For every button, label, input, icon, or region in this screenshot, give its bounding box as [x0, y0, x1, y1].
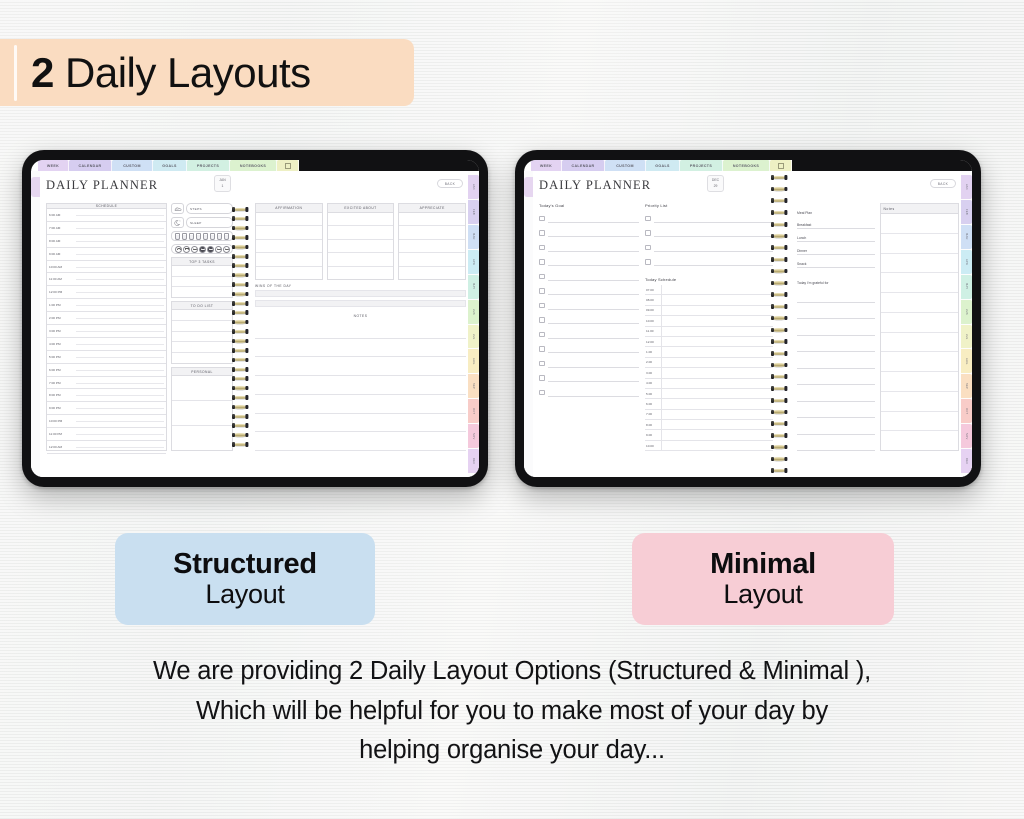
schedule-row[interactable]: 12:00 AM: [47, 441, 166, 454]
meal-plan-label: Meal Plan: [797, 203, 875, 216]
meal-dinner[interactable]: Dinner: [797, 242, 875, 255]
todays-goal-rows[interactable]: [539, 211, 639, 400]
todo-row[interactable]: [172, 342, 232, 353]
schedule-row[interactable]: 7:00 AM: [47, 222, 166, 235]
schedule-entry-line[interactable]: [74, 273, 166, 286]
appreciate-row[interactable]: [399, 267, 465, 279]
today-schedule-row[interactable]: 1.00: [645, 347, 773, 357]
tab-calendar[interactable]: CALENDAR: [562, 160, 605, 171]
mood-face-icon[interactable]: [183, 246, 190, 253]
todays-goal-row[interactable]: [539, 371, 639, 386]
today-schedule-row[interactable]: 7.00: [645, 410, 773, 420]
entry-line[interactable]: [548, 286, 640, 295]
notes-row[interactable]: [881, 214, 959, 234]
today-schedule-entry-line[interactable]: [662, 327, 773, 337]
today-schedule-rows[interactable]: 07.0008.0009.0010.0011.0012.001.002.003.…: [645, 285, 773, 451]
month-tab-nov[interactable]: NOV: [961, 424, 972, 448]
todays-goal-row[interactable]: [539, 298, 639, 313]
schedule-row[interactable]: 9:00 PM: [47, 402, 166, 415]
appreciate-row[interactable]: [399, 240, 465, 253]
steps-tracker[interactable]: STEPS: [171, 203, 233, 214]
checkbox[interactable]: [539, 375, 545, 381]
priority-list-row[interactable]: [645, 211, 773, 226]
appreciate-row[interactable]: [399, 226, 465, 239]
spiral-ring: [771, 433, 787, 438]
checkbox[interactable]: [645, 230, 651, 236]
mood-tracker[interactable]: [171, 244, 233, 254]
todo-row[interactable]: [172, 353, 232, 363]
schedule-row[interactable]: 10:00 AM: [47, 261, 166, 274]
schedule-row[interactable]: 1:00 PM: [47, 299, 166, 312]
today-schedule-row[interactable]: 08.00: [645, 295, 773, 305]
schedule-row[interactable]: 12:00 PM: [47, 286, 166, 299]
tab-goals[interactable]: GOALS: [153, 160, 187, 171]
checkbox[interactable]: [645, 216, 651, 222]
todays-goal-row[interactable]: [539, 327, 639, 342]
date-badge-minimal[interactable]: DEC 29: [707, 175, 724, 192]
entry-line[interactable]: [654, 243, 774, 252]
month-tab-jul[interactable]: JUL: [468, 325, 479, 349]
notes-row[interactable]: [881, 234, 959, 254]
date-badge-structured[interactable]: JAN 1: [214, 175, 231, 192]
schedule-row[interactable]: 6:00 PM: [47, 364, 166, 377]
entry-line[interactable]: [548, 330, 640, 339]
today-schedule-entry-line[interactable]: [662, 410, 773, 420]
month-tab-dec[interactable]: DEC: [961, 449, 972, 473]
todays-goal-row[interactable]: [539, 211, 639, 226]
schedule-entry-line[interactable]: [74, 222, 166, 235]
todays-goal-row[interactable]: [539, 342, 639, 357]
schedule-entry-line[interactable]: [74, 389, 166, 402]
todays-goal-row[interactable]: [539, 313, 639, 328]
mood-face-icon[interactable]: [199, 246, 206, 253]
meal-snack[interactable]: Snack: [797, 255, 875, 268]
appreciate-row[interactable]: [399, 253, 465, 266]
excited-about-row[interactable]: [328, 267, 394, 279]
schedule-entry-line[interactable]: [74, 441, 166, 454]
checkbox[interactable]: [645, 245, 651, 251]
tab-custom[interactable]: CUSTOM: [112, 160, 153, 171]
grateful-line[interactable]: [797, 402, 875, 419]
today-schedule-entry-line[interactable]: [662, 368, 773, 378]
today-schedule-entry-line[interactable]: [662, 285, 773, 295]
schedule-entry-line[interactable]: [74, 351, 166, 364]
checkbox[interactable]: [539, 245, 545, 251]
today-schedule-entry-line[interactable]: [662, 347, 773, 357]
sleep-tracker[interactable]: SLEEP: [171, 217, 233, 228]
notes-row[interactable]: [881, 313, 959, 333]
excited-about-row[interactable]: [328, 226, 394, 239]
water-intake-tracker[interactable]: [171, 231, 233, 241]
today-schedule-row[interactable]: 11.00: [645, 327, 773, 337]
spiral-ring: [771, 363, 787, 368]
today-schedule-row[interactable]: 3.00: [645, 368, 773, 378]
tab-week[interactable]: WEEK: [531, 160, 562, 171]
water-glass-icon[interactable]: [217, 233, 222, 240]
water-glass-icon[interactable]: [175, 233, 180, 240]
notes-row[interactable]: [881, 431, 959, 450]
left-edge-tabs-structured[interactable]: [31, 171, 40, 477]
today-schedule-entry-line[interactable]: [662, 420, 773, 430]
tab-grid-icon[interactable]: [277, 160, 299, 171]
wins-of-the-day-section: WINS OF THE DAY: [255, 284, 466, 310]
checkbox[interactable]: [539, 230, 545, 236]
affirmation-row[interactable]: [256, 213, 322, 226]
grateful-line[interactable]: [797, 303, 875, 320]
today-schedule-row[interactable]: 6.00: [645, 399, 773, 409]
schedule-entry-line[interactable]: [74, 286, 166, 299]
entry-line[interactable]: [548, 344, 640, 353]
notes-row[interactable]: [881, 352, 959, 372]
today-schedule-row[interactable]: 09.00: [645, 306, 773, 316]
mood-face-icon[interactable]: [215, 246, 222, 253]
todays-goal-row[interactable]: [539, 240, 639, 255]
tab-week[interactable]: WEEK: [38, 160, 69, 171]
tab-grid-icon[interactable]: [770, 160, 792, 171]
month-tab-feb[interactable]: FEB: [468, 200, 479, 224]
sleep-label[interactable]: SLEEP: [186, 217, 233, 228]
water-glass-icon[interactable]: [182, 233, 187, 240]
checkbox[interactable]: [539, 346, 545, 352]
grateful-line[interactable]: [797, 286, 875, 303]
entry-line[interactable]: [654, 214, 774, 223]
month-tab-may[interactable]: MAY: [961, 275, 972, 299]
entry-line[interactable]: [548, 214, 640, 223]
todays-goal-row[interactable]: [539, 255, 639, 270]
personal-row[interactable]: [172, 426, 232, 450]
priority-list-row[interactable]: [645, 240, 773, 255]
todays-goal-row[interactable]: [539, 269, 639, 284]
checkbox[interactable]: [645, 259, 651, 265]
date-day: 1: [222, 184, 224, 189]
schedule-entry-line[interactable]: [74, 261, 166, 274]
today-schedule-entry-line[interactable]: [662, 441, 773, 451]
checkbox[interactable]: [539, 216, 545, 222]
checkbox[interactable]: [539, 317, 545, 323]
month-tab-oct[interactable]: OCT: [961, 399, 972, 423]
checkbox[interactable]: [539, 259, 545, 265]
todo-row[interactable]: [172, 310, 232, 321]
schedule-row[interactable]: 9:00 AM: [47, 248, 166, 261]
notes-line[interactable]: [255, 339, 466, 358]
todo-row[interactable]: [172, 321, 232, 332]
spiral-ring: [771, 257, 787, 262]
month-tab-jun[interactable]: JUN: [468, 300, 479, 324]
top3-tasks-header: TOP 3 TASKS: [172, 258, 232, 266]
entry-line[interactable]: [548, 359, 640, 368]
tab-calendar[interactable]: CALENDAR: [69, 160, 112, 171]
tab-projects[interactable]: PROJECTS: [187, 160, 230, 171]
wins-row[interactable]: [255, 300, 466, 307]
personal-row[interactable]: [172, 376, 232, 401]
notes-rows-minimal[interactable]: [881, 214, 959, 450]
month-tab-jul[interactable]: JUL: [961, 325, 972, 349]
month-tab-oct[interactable]: OCT: [468, 399, 479, 423]
schedule-time: 5:00 PM: [47, 351, 74, 364]
tablet-minimal[interactable]: WEEK CALENDAR CUSTOM GOALS PROJECTS NOTE…: [515, 150, 981, 487]
today-schedule-entry-line[interactable]: [662, 430, 773, 440]
left-edge-tab-chip[interactable]: [31, 177, 40, 197]
today-schedule-entry-line[interactable]: [662, 379, 773, 389]
wins-row[interactable]: [255, 290, 466, 297]
schedule-entry-line[interactable]: [74, 428, 166, 441]
back-button-minimal[interactable]: BACK: [930, 179, 956, 188]
month-tab-apr[interactable]: APR: [961, 250, 972, 274]
title-banner: 2 Daily Layouts: [0, 39, 414, 106]
steps-label[interactable]: STEPS: [186, 203, 233, 214]
grateful-line[interactable]: [797, 369, 875, 386]
checkbox[interactable]: [539, 361, 545, 367]
month-tab-aug[interactable]: AUG: [468, 349, 479, 373]
notes-row[interactable]: [881, 333, 959, 353]
minimal-layout-label: Minimal Layout: [632, 533, 894, 625]
today-schedule-entry-line[interactable]: [662, 337, 773, 347]
month-tab-aug[interactable]: AUG: [961, 349, 972, 373]
notes-row[interactable]: [881, 273, 959, 293]
schedule-entry-line[interactable]: [74, 325, 166, 338]
priority-list-rows[interactable]: [645, 211, 773, 269]
spiral-ring: [771, 351, 787, 356]
left-edge-tab-chip[interactable]: [524, 177, 533, 197]
schedule-row[interactable]: 2:00 PM: [47, 312, 166, 325]
spiral-ring: [232, 358, 248, 363]
water-glass-icon[interactable]: [210, 233, 215, 240]
notes-line[interactable]: [255, 432, 466, 451]
tab-goals[interactable]: GOALS: [646, 160, 680, 171]
mood-face-icon[interactable]: [191, 246, 198, 253]
schedule-row[interactable]: 6:00 AM: [47, 209, 166, 222]
priority-list-row[interactable]: [645, 226, 773, 241]
schedule-row[interactable]: 4:00 PM: [47, 338, 166, 351]
affirmation-row[interactable]: [256, 267, 322, 279]
month-tabs-minimal[interactable]: JANFEBMARAPRMAYJUNJULAUGSEPOCTNOVDEC: [961, 171, 972, 477]
excited-about-row[interactable]: [328, 253, 394, 266]
today-schedule-row[interactable]: 12.00: [645, 337, 773, 347]
todays-goal-row[interactable]: [539, 385, 639, 400]
grateful-label: Today I'm grateful for: [797, 273, 875, 286]
schedule-entry-line[interactable]: [74, 248, 166, 261]
structured-layout-label: Structured Layout: [115, 533, 375, 625]
notes-row[interactable]: [881, 392, 959, 412]
water-glass-icon[interactable]: [224, 233, 229, 240]
meal-lunch[interactable]: Lunch: [797, 229, 875, 242]
notes-lines-structured[interactable]: [255, 320, 466, 451]
grateful-rows[interactable]: [797, 286, 875, 451]
grateful-line[interactable]: [797, 336, 875, 353]
mood-face-icon[interactable]: [207, 246, 214, 253]
today-schedule-row[interactable]: 8.00: [645, 420, 773, 430]
schedule-row[interactable]: 5:00 PM: [47, 351, 166, 364]
entry-line[interactable]: [548, 243, 640, 252]
schedule-row[interactable]: 3:00 PM: [47, 325, 166, 338]
entry-line[interactable]: [548, 315, 640, 324]
todays-goal-row[interactable]: [539, 226, 639, 241]
notes-row[interactable]: [881, 254, 959, 274]
grateful-line[interactable]: [797, 319, 875, 336]
today-schedule-entry-line[interactable]: [662, 399, 773, 409]
excited-about-row[interactable]: [328, 213, 394, 226]
spiral-ring: [232, 329, 248, 334]
spiral-ring: [771, 410, 787, 415]
notes-line[interactable]: [255, 357, 466, 376]
entry-line[interactable]: [548, 373, 640, 382]
today-schedule-row[interactable]: 2.00: [645, 358, 773, 368]
schedule-time: 11:00 PM: [47, 428, 74, 441]
schedule-time: 8:00 PM: [47, 389, 74, 402]
appreciate-row[interactable]: [399, 213, 465, 226]
month-tab-jan[interactable]: JAN: [468, 175, 479, 199]
entry-line[interactable]: [548, 301, 640, 310]
left-edge-tabs-minimal[interactable]: [524, 171, 533, 477]
checkbox[interactable]: [539, 390, 545, 396]
tab-custom[interactable]: CUSTOM: [605, 160, 646, 171]
back-button-structured[interactable]: BACK: [437, 179, 463, 188]
today-schedule-row[interactable]: 10.00: [645, 316, 773, 326]
schedule-entry-line[interactable]: [74, 377, 166, 390]
schedule-entry-line[interactable]: [74, 299, 166, 312]
grateful-line[interactable]: [797, 385, 875, 402]
month-tabs-structured[interactable]: JANFEBMARAPRMAYJUNJULAUGSEPOCTNOVDEC: [468, 171, 479, 477]
page-title: 2 Daily Layouts: [31, 49, 311, 97]
today-schedule-row[interactable]: 10.00: [645, 441, 773, 451]
spiral-ring: [232, 263, 248, 268]
mood-face-icon[interactable]: [175, 246, 182, 253]
schedule-row[interactable]: 11:00 PM: [47, 428, 166, 441]
grateful-line[interactable]: [797, 435, 875, 452]
checkbox[interactable]: [539, 274, 545, 280]
month-tab-jun[interactable]: JUN: [961, 300, 972, 324]
tablet-structured[interactable]: WEEK CALENDAR CUSTOM GOALS PROJECTS NOTE…: [22, 150, 488, 487]
schedule-entry-line[interactable]: [74, 402, 166, 415]
checkbox[interactable]: [539, 288, 545, 294]
notes-line[interactable]: [255, 320, 466, 339]
affirmation-row[interactable]: [256, 226, 322, 239]
shoe-icon: [171, 203, 184, 214]
schedule-entry-line[interactable]: [74, 364, 166, 377]
schedule-row[interactable]: 8:00 PM: [47, 389, 166, 402]
notes-line[interactable]: [255, 414, 466, 433]
entry-line[interactable]: [548, 257, 640, 266]
water-glass-icon[interactable]: [196, 233, 201, 240]
excited-about-row[interactable]: [328, 240, 394, 253]
affirmation-row[interactable]: [256, 240, 322, 253]
notes-row[interactable]: [881, 412, 959, 432]
schedule-row[interactable]: 10:00 PM: [47, 415, 166, 428]
footer-line-3: helping organise your day...: [0, 731, 1024, 771]
date-day: 29: [714, 184, 718, 189]
month-tab-sep[interactable]: SEP: [961, 374, 972, 398]
month-tab-nov[interactable]: NOV: [468, 424, 479, 448]
schedule-rows[interactable]: 6:00 AM7:00 AM8:00 AM9:00 AM10:00 AM11:0…: [47, 209, 166, 454]
checkbox[interactable]: [539, 303, 545, 309]
entry-line[interactable]: [548, 272, 640, 281]
tab-projects[interactable]: PROJECTS: [680, 160, 723, 171]
top-tab-strip-structured[interactable]: WEEK CALENDAR CUSTOM GOALS PROJECTS NOTE…: [31, 160, 479, 171]
schedule-entry-line[interactable]: [74, 235, 166, 248]
entry-line[interactable]: [548, 228, 640, 237]
notes-line[interactable]: [255, 395, 466, 414]
todo-row[interactable]: [172, 332, 232, 343]
month-tab-sep[interactable]: SEP: [468, 374, 479, 398]
water-glass-icon[interactable]: [203, 233, 208, 240]
today-schedule-entry-line[interactable]: [662, 389, 773, 399]
tab-notebooks[interactable]: NOTEBOOKS: [230, 160, 277, 171]
meal-breakfast[interactable]: Breakfast: [797, 216, 875, 229]
spiral-ring: [232, 320, 248, 325]
spiral-ring: [771, 468, 787, 473]
schedule-time: 9:00 PM: [47, 402, 74, 415]
today-schedule-entry-line[interactable]: [662, 316, 773, 326]
notes-line[interactable]: [255, 376, 466, 395]
entry-line[interactable]: [654, 228, 774, 237]
moon-icon: [171, 217, 184, 228]
priority-list-row[interactable]: [645, 255, 773, 270]
grateful-line[interactable]: [797, 418, 875, 435]
schedule-row[interactable]: 7:00 PM: [47, 377, 166, 390]
todays-goal-row[interactable]: [539, 284, 639, 299]
top3-row[interactable]: [172, 287, 232, 297]
spiral-ring: [771, 386, 787, 391]
month-tab-jan[interactable]: JAN: [961, 175, 972, 199]
schedule-row[interactable]: 11:00 AM: [47, 273, 166, 286]
today-schedule-row[interactable]: 4.00: [645, 379, 773, 389]
schedule-time: 4:00 PM: [47, 338, 74, 351]
schedule-entry-line[interactable]: [74, 209, 166, 222]
checkbox[interactable]: [539, 332, 545, 338]
today-schedule-entry-line[interactable]: [662, 358, 773, 368]
today-schedule-entry-line[interactable]: [662, 295, 773, 305]
excited-about-header: EXCITED ABOUT: [328, 204, 394, 213]
water-glass-icon[interactable]: [189, 233, 194, 240]
month-tab-may[interactable]: MAY: [468, 275, 479, 299]
top3-row[interactable]: [172, 266, 232, 277]
journal-column: AFFIRMATION EXCITED ABOUT: [255, 203, 466, 451]
today-schedule-row[interactable]: 5.00: [645, 389, 773, 399]
schedule-row[interactable]: 8:00 AM: [47, 235, 166, 248]
schedule-time: 12:00 PM: [47, 286, 74, 299]
notes-row[interactable]: [881, 372, 959, 392]
todays-goal-row[interactable]: [539, 356, 639, 371]
planner-header-structured: DAILY PLANNER JAN 1 BACK: [46, 177, 466, 203]
notes-row[interactable]: [881, 293, 959, 313]
spiral-ring: [232, 282, 248, 287]
month-tab-feb[interactable]: FEB: [961, 200, 972, 224]
month-tab-apr[interactable]: APR: [468, 250, 479, 274]
month-tab-dec[interactable]: DEC: [468, 449, 479, 473]
schedule-entry-line[interactable]: [74, 415, 166, 428]
entry-line[interactable]: [654, 257, 774, 266]
top3-row[interactable]: [172, 277, 232, 288]
grateful-line[interactable]: [797, 352, 875, 369]
spiral-ring: [232, 216, 248, 221]
month-tab-mar[interactable]: MAR: [961, 225, 972, 249]
today-schedule-row[interactable]: 9.00: [645, 430, 773, 440]
top-tab-strip-minimal[interactable]: WEEK CALENDAR CUSTOM GOALS PROJECTS NOTE…: [524, 160, 972, 171]
entry-line[interactable]: [548, 388, 640, 397]
month-tab-mar[interactable]: MAR: [468, 225, 479, 249]
tab-notebooks[interactable]: NOTEBOOKS: [723, 160, 770, 171]
affirmation-row[interactable]: [256, 253, 322, 266]
mood-face-icon[interactable]: [223, 246, 230, 253]
spiral-ring: [232, 245, 248, 250]
personal-row[interactable]: [172, 401, 232, 426]
spiral-ring: [232, 423, 248, 428]
today-schedule-entry-line[interactable]: [662, 306, 773, 316]
today-schedule-row[interactable]: 07.00: [645, 285, 773, 295]
today-schedule-time: 08.00: [645, 295, 662, 305]
schedule-entry-line[interactable]: [74, 338, 166, 351]
schedule-entry-line[interactable]: [74, 312, 166, 325]
